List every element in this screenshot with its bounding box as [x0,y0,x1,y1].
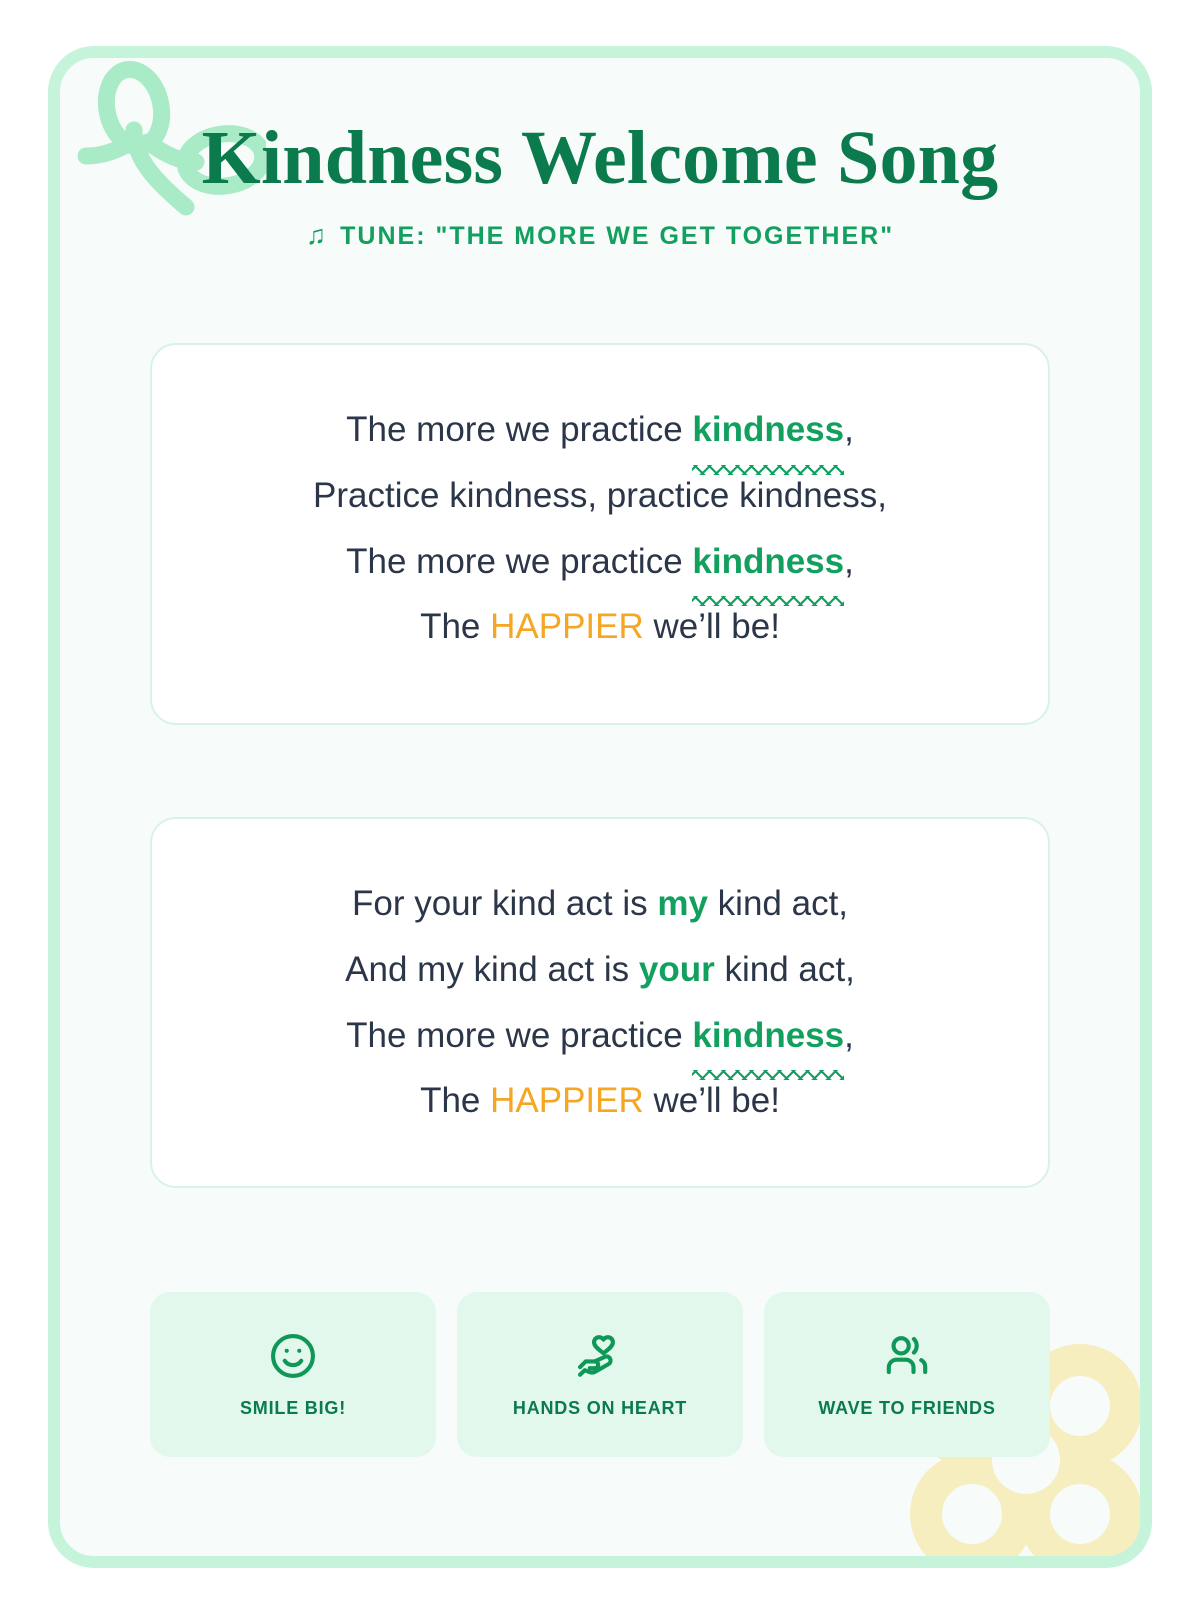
action-label: HANDS ON HEART [513,1398,687,1419]
music-note-icon: ♫ [306,222,328,249]
verse-line: Practice kindness, practice kindness, [192,463,1008,529]
smiley-face-icon [267,1330,319,1382]
page-title: Kindness Welcome Song [150,120,1050,196]
poster-content: Kindness Welcome Song ♫ TUNE: "THE MORE … [60,58,1140,1457]
verse-line: The HAPPIER we’ll be! [192,594,1008,660]
verse-line: The more we practice kindness, [192,529,1008,595]
action-button-row: SMILE BIG! HANDS ON HEART [150,1292,1050,1457]
poster-card: Kindness Welcome Song ♫ TUNE: "THE MORE … [48,46,1152,1568]
verse-card-two: For your kind act is my kind act, And my… [150,817,1050,1188]
two-people-icon [881,1330,933,1382]
hand-heart-icon [574,1330,626,1382]
action-label: WAVE TO FRIENDS [818,1398,995,1419]
verse-line: The more we practice kindness, [192,1003,1008,1069]
keyword-word: kindness [692,397,844,463]
action-button-wave-to-friends[interactable]: WAVE TO FRIENDS [764,1292,1050,1457]
verse-card-one: The more we practice kindness, Practice … [150,343,1050,725]
verse-line: The more we practice kindness, [192,397,1008,463]
tune-subtitle: ♫ TUNE: "THE MORE WE GET TOGETHER" [150,222,1050,251]
verse-line: The HAPPIER we’ll be! [192,1068,1008,1134]
keyword-word: my [657,871,708,937]
action-label: SMILE BIG! [240,1398,346,1419]
poster-page: Kindness Welcome Song ♫ TUNE: "THE MORE … [0,0,1200,1600]
verse-line: And my kind act is your kind act, [192,937,1008,1003]
verse-line: For your kind act is my kind act, [192,871,1008,937]
action-button-hands-on-heart[interactable]: HANDS ON HEART [457,1292,743,1457]
keyword-word: kindness [692,529,844,595]
highlight-word: HAPPIER [490,1081,644,1120]
highlight-word: HAPPIER [490,607,644,646]
keyword-word: kindness [692,1003,844,1069]
keyword-word: your [639,937,715,1003]
tune-subtitle-text: TUNE: "THE MORE WE GET TOGETHER" [340,222,894,251]
action-button-smile-big[interactable]: SMILE BIG! [150,1292,436,1457]
